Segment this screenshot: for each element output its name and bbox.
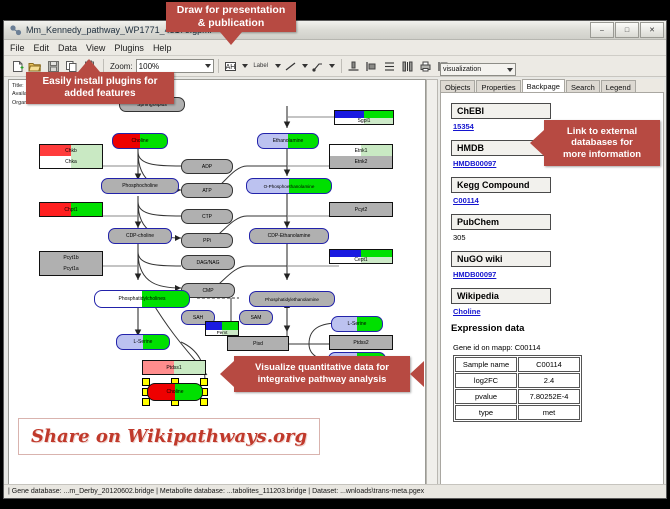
close-button[interactable]: ✕ xyxy=(640,22,664,38)
handle-sw[interactable] xyxy=(142,398,150,406)
print-icon[interactable] xyxy=(418,58,434,74)
node-adp[interactable]: ADP xyxy=(181,159,233,174)
cell-value: met xyxy=(518,405,580,420)
db-header-kegg-compound: Kegg Compound xyxy=(451,177,551,193)
cell-value: 2.4 xyxy=(518,373,580,388)
cell-key: log2FC xyxy=(455,373,517,388)
stack-icon[interactable] xyxy=(382,58,398,74)
toolbar-separator xyxy=(103,59,104,73)
node-pemt[interactable]: Pemt xyxy=(205,321,239,336)
menu-item-data[interactable]: Data xyxy=(58,43,77,53)
menu-item-view[interactable]: View xyxy=(86,43,105,53)
node-ctp[interactable]: CTP xyxy=(181,209,233,224)
visualization-combobox[interactable]: visualization xyxy=(440,63,516,76)
maximize-button[interactable]: □ xyxy=(615,22,639,38)
node-choline-selected[interactable]: Choline xyxy=(147,383,203,401)
label-tool-dropdown[interactable] xyxy=(274,58,283,74)
node-phosphocholine[interactable]: Phosphocholine xyxy=(101,178,179,194)
new-file-icon[interactable] xyxy=(9,58,25,74)
toolbar-separator xyxy=(341,59,342,73)
table-row: log2FC 2.4 xyxy=(455,373,580,388)
node-chpt1[interactable]: Chpt1 xyxy=(39,202,103,217)
window-title-bar: Mm_Kennedy_pathway_WP1771_45176.gpml – □… xyxy=(4,21,666,40)
chevron-down-icon xyxy=(205,64,211,68)
callout-plugins-arrow-icon xyxy=(78,59,100,72)
align-bottom-icon[interactable] xyxy=(346,58,362,74)
node-sgpl1[interactable]: Sgpl1 xyxy=(334,110,394,125)
anchor-tool-dropdown[interactable] xyxy=(328,58,337,74)
menu-item-plugins[interactable]: Plugins xyxy=(114,43,144,53)
node-l-serine-left[interactable]: L-Serine xyxy=(116,334,170,350)
node-pcyt1a[interactable]: Pcyt1a xyxy=(39,263,103,276)
node-chka[interactable]: Chka xyxy=(39,156,103,169)
menu-bar: File Edit Data View Plugins Help xyxy=(4,40,666,56)
node-ptdss2[interactable]: Ptdss2 xyxy=(329,335,393,350)
table-row: pvalue 7.80252E-4 xyxy=(455,389,580,404)
db-header-chebi: ChEBI xyxy=(451,103,551,119)
chevron-down-icon xyxy=(507,68,513,72)
callout-plugins: Easily install plugins for added feature… xyxy=(26,72,174,104)
canvas-vertical-scrollbar[interactable] xyxy=(426,79,438,485)
tab-backpage[interactable]: Backpage xyxy=(522,79,565,93)
node-phosphatidylethanolamine[interactable]: Phosphatidylethanolamine xyxy=(249,291,335,307)
db-header-nugo-wiki: NuGO wiki xyxy=(451,251,551,267)
node-choline-top[interactable]: Choline xyxy=(112,133,168,149)
callout-share-text: Share on Wikipathways.org xyxy=(31,426,307,447)
gene-id-line: Gene id on mapp: C00114 xyxy=(453,343,655,352)
zoom-combobox[interactable]: 100% xyxy=(136,59,214,73)
callout-draw: Draw for presentation & publication xyxy=(166,2,296,32)
node-pisd[interactable]: Pisd xyxy=(227,336,289,351)
callout-visualize-arrow-icon xyxy=(220,361,234,387)
toolbar-separator xyxy=(218,59,219,73)
callout-visualize: Visualize quantitative data for integrat… xyxy=(234,356,410,392)
status-bar: | Gene database: ...m_Derby_20120602.bri… xyxy=(4,484,666,498)
minimize-button[interactable]: – xyxy=(590,22,614,38)
db-header-pubchem: PubChem xyxy=(451,214,551,230)
visualization-value: visualization xyxy=(443,66,481,73)
label-tool-text: Label xyxy=(253,63,268,69)
db-header-wikipedia: Wikipedia xyxy=(451,288,551,304)
node-o-phosphoethanolamine[interactable]: O-Phosphoethanolamine xyxy=(246,178,332,194)
callout-links-arrow-icon xyxy=(530,130,544,156)
line-tool-dropdown[interactable] xyxy=(301,58,310,74)
panel-tabs: Objects Properties Backpage Search Legen… xyxy=(440,79,664,93)
window-controls: – □ ✕ xyxy=(590,22,664,38)
cell-value: C00114 xyxy=(518,357,580,372)
cell-key: Sample name xyxy=(455,357,517,372)
node-ppi[interactable]: PPi xyxy=(181,233,233,248)
node-sam[interactable]: SAM xyxy=(239,310,273,325)
db-link-wikipedia[interactable]: Choline xyxy=(453,307,655,316)
handle-se[interactable] xyxy=(200,398,208,406)
menu-item-help[interactable]: Help xyxy=(153,43,172,53)
node-phosphatidylcholines[interactable]: Phosphatidylcholines xyxy=(94,290,190,308)
cell-key: pvalue xyxy=(455,389,517,404)
callout-visualize-arrow-right-icon xyxy=(410,361,424,387)
node-etnk2[interactable]: Etnk2 xyxy=(329,156,393,169)
db-link-nugo-wiki[interactable]: HMDB00097 xyxy=(453,270,655,279)
expression-table: Sample name C00114 log2FC 2.4 pvalue 7.8… xyxy=(453,355,582,422)
node-dag-nag[interactable]: DAG/NAG xyxy=(181,255,235,270)
node-cept1[interactable]: Cept1 xyxy=(329,249,393,264)
cell-value: 7.80252E-4 xyxy=(518,389,580,404)
label-tool-icon[interactable]: Label xyxy=(250,58,272,74)
cell-key: type xyxy=(455,405,517,420)
expression-data-heading: Expression data xyxy=(451,323,655,334)
distribute-icon[interactable] xyxy=(400,58,416,74)
callout-share-box: Share on Wikipathways.org xyxy=(18,418,320,455)
node-pcyt2[interactable]: Pcyt2 xyxy=(329,202,393,217)
node-cdp-choline[interactable]: CDP-choline xyxy=(108,228,172,244)
handle-ne[interactable] xyxy=(200,378,208,386)
svg-text:AH: AH xyxy=(226,64,236,71)
node-ptdss1[interactable]: Ptdss1 xyxy=(142,360,206,375)
status-bar-text: | Gene database: ...m_Derby_20120602.bri… xyxy=(8,488,424,495)
screenshot-root: Mm_Kennedy_pathway_WP1771_45176.gpml – □… xyxy=(0,0,670,509)
align-left-icon[interactable] xyxy=(364,58,380,74)
text-tool-icon[interactable]: AH xyxy=(223,58,239,74)
table-row: Sample name C00114 xyxy=(455,357,580,372)
db-value-pubchem: 305 xyxy=(453,233,655,242)
node-cdp-ethanolamine[interactable]: CDP-Ethanolamine xyxy=(249,228,329,244)
menu-item-edit[interactable]: Edit xyxy=(34,43,50,53)
anchor-tool-icon[interactable] xyxy=(310,58,326,74)
table-row: type met xyxy=(455,405,580,420)
callout-draw-arrow-icon xyxy=(220,32,242,45)
node-l-serine-right[interactable]: L-Serine xyxy=(331,316,383,332)
menu-item-file[interactable]: File xyxy=(10,43,25,53)
node-atp[interactable]: ATP xyxy=(181,183,233,198)
callout-links: Link to external databases for more info… xyxy=(544,120,660,166)
db-link-kegg-compound[interactable]: C00114 xyxy=(453,196,655,205)
app-icon xyxy=(9,24,22,37)
text-tool-dropdown[interactable] xyxy=(241,58,250,74)
node-ethanolamine[interactable]: Ethanolamine xyxy=(257,133,319,149)
zoom-value: 100% xyxy=(139,62,159,71)
zoom-label: Zoom: xyxy=(110,62,133,71)
line-tool-icon[interactable] xyxy=(283,58,299,74)
